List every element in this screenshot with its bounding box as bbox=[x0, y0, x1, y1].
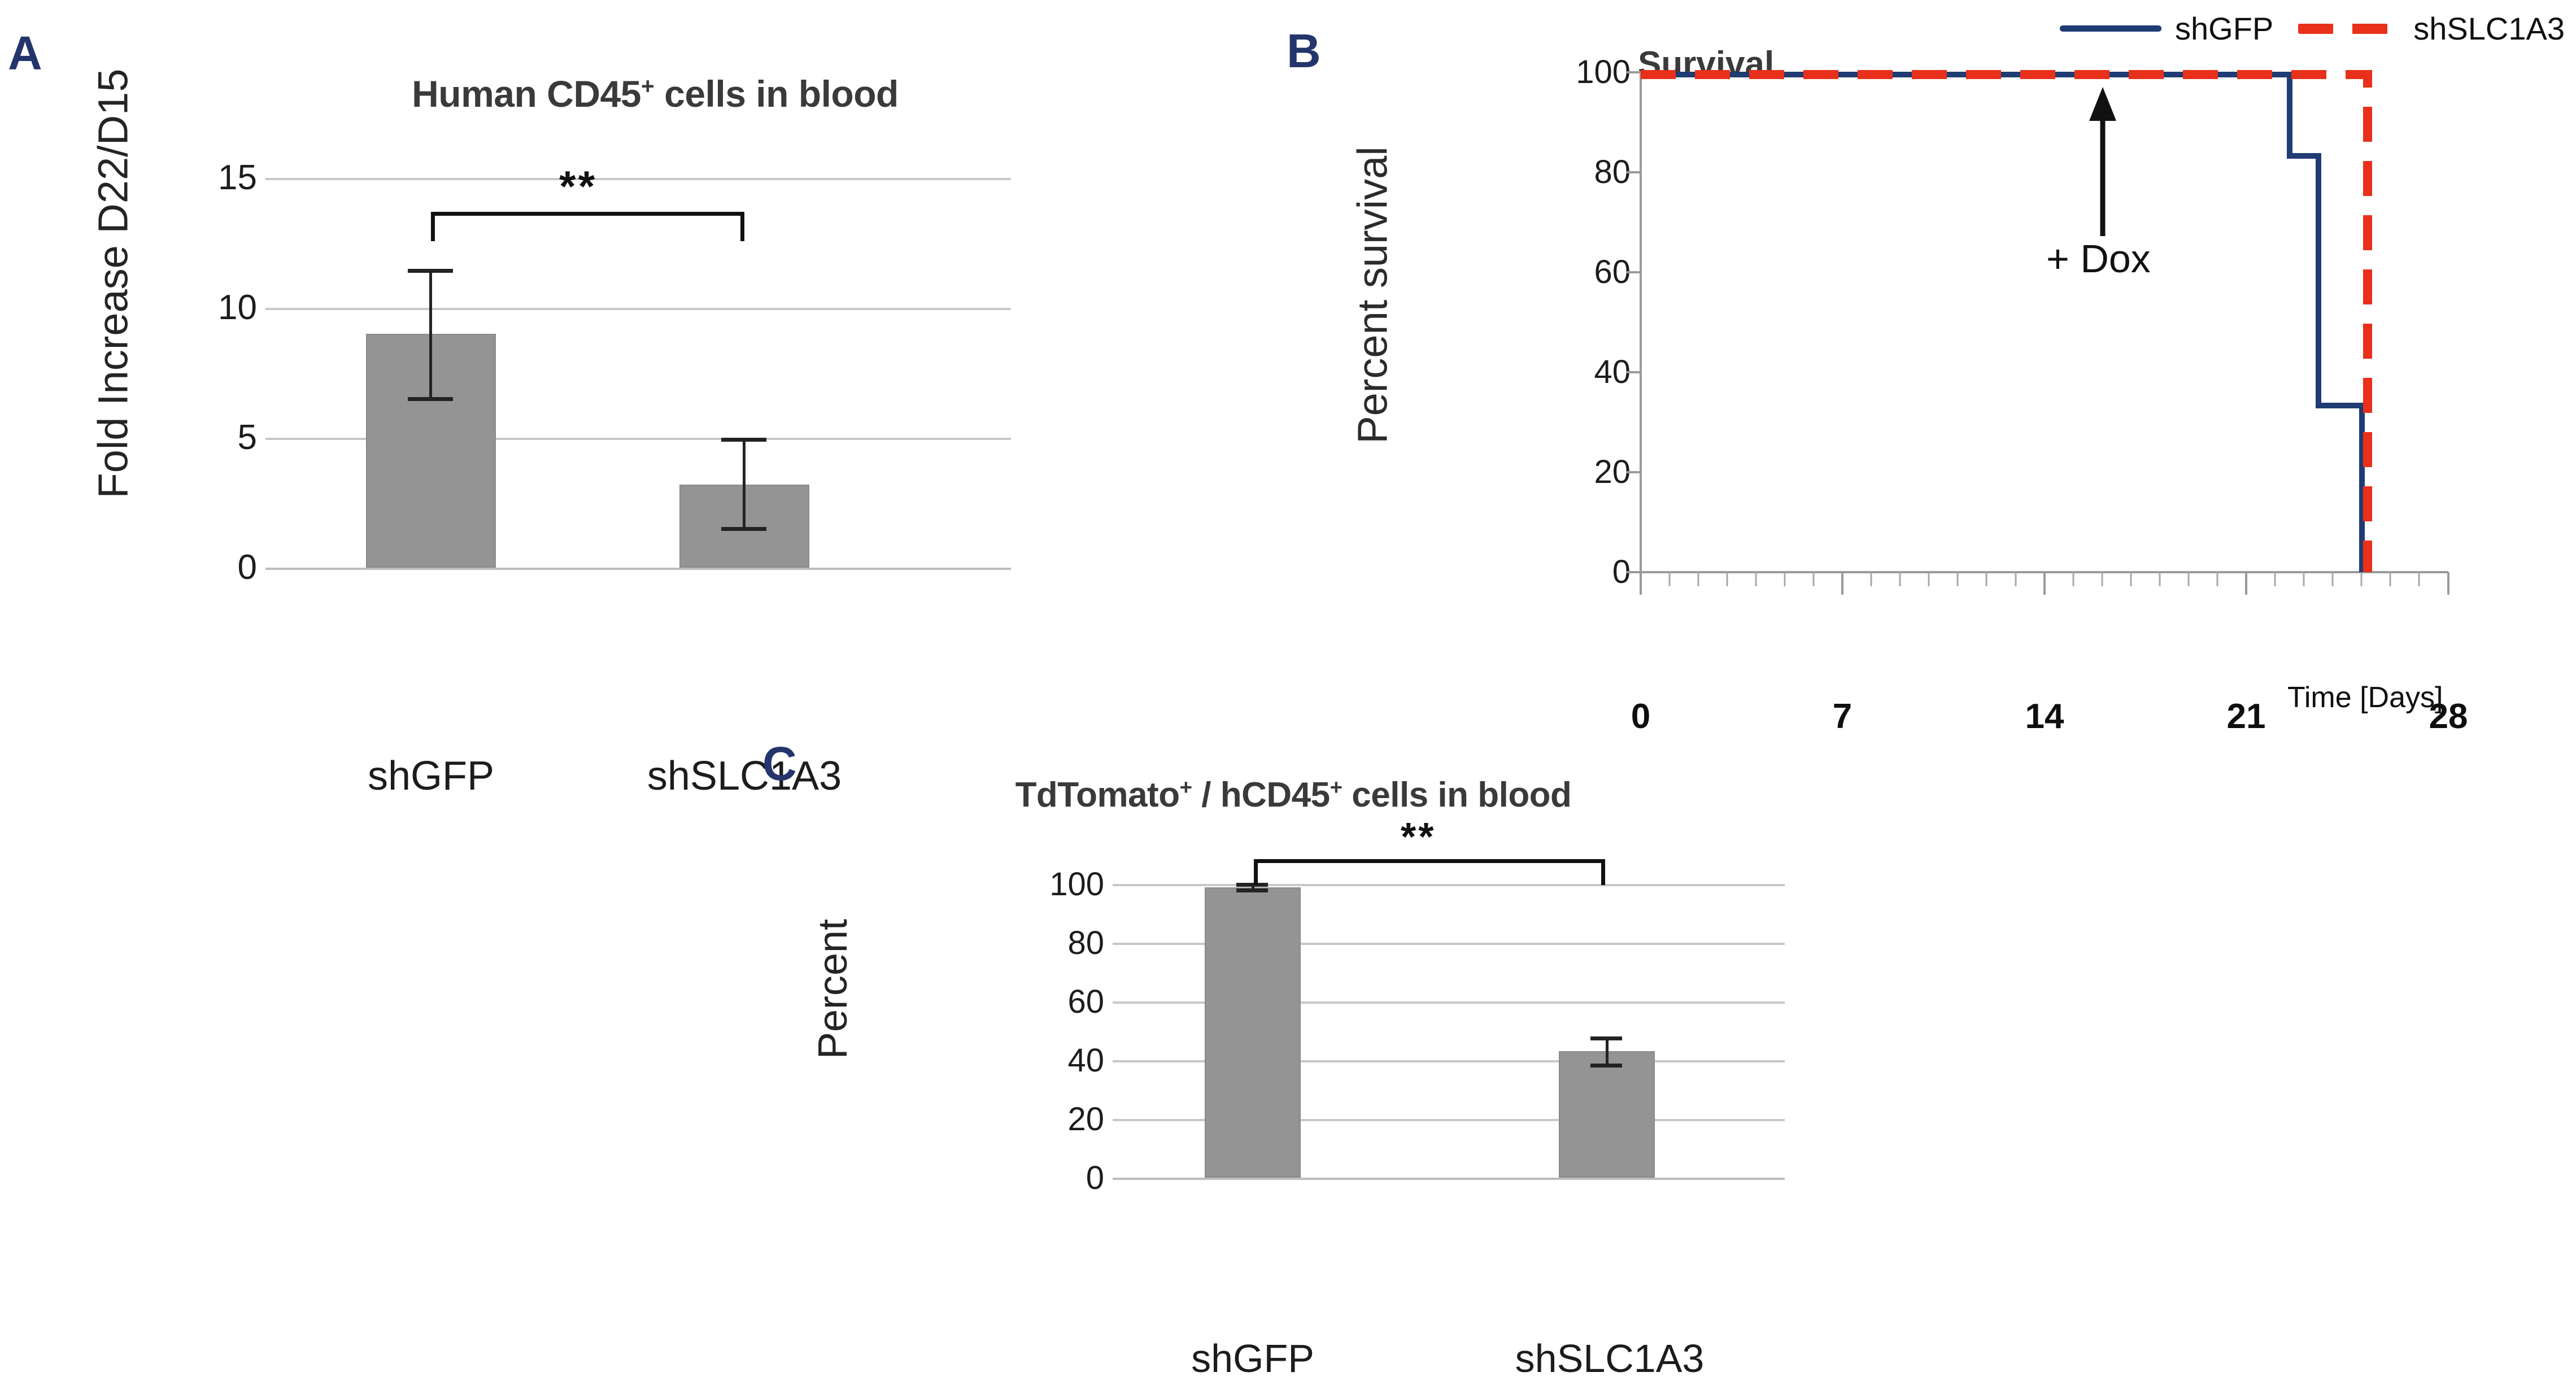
panel-b-xtick-7: 7 bbox=[1797, 696, 1888, 737]
panel-c-bar-shgfp[interactable] bbox=[1205, 887, 1301, 1178]
legend-item-shslc1a3[interactable]: shSLC1A3 bbox=[2298, 10, 2565, 47]
panel-b-major-ticks bbox=[1641, 572, 2448, 595]
panel-c-axis-baseline bbox=[1113, 1178, 1785, 1180]
panel-c-errorbar-shgfp-cap-bottom bbox=[1236, 888, 1268, 892]
panel-a-sig-bracket-left bbox=[431, 212, 435, 241]
panel-c-gridline-100 bbox=[1113, 884, 1785, 886]
panel-c-y-axis-label: Percent bbox=[810, 831, 856, 1147]
panel-b-ytick-60: 60 bbox=[1518, 253, 1631, 291]
panel-a-letter: A bbox=[8, 29, 42, 77]
panel-a-significance-stars: ** bbox=[559, 162, 597, 211]
panel-b-survival-curves bbox=[1641, 72, 2448, 694]
legend-line-solid-icon bbox=[2060, 25, 2161, 32]
legend-item-shgfp[interactable]: shGFP bbox=[2060, 10, 2273, 47]
panel-c-significance-stars: ** bbox=[1401, 814, 1436, 859]
panel-a-errorbar-shgfp-cap-bottom bbox=[408, 397, 453, 401]
panel-a-ytick-15: 15 bbox=[155, 158, 257, 198]
panel-b-xtick-21: 21 bbox=[2201, 696, 2291, 737]
panel-c-title-p2: / hCD45 bbox=[1192, 776, 1330, 814]
panel-c-errorbar-shslc1a3-cap-bottom bbox=[1590, 1064, 1622, 1068]
panel-a: A Human CD45+ cells in blood Fold Increa… bbox=[0, 0, 1276, 734]
panel-b-dox-arrow-icon bbox=[2089, 87, 2116, 236]
panel-b-ytick-20: 20 bbox=[1518, 453, 1631, 491]
panel-a-errorbar-shgfp-line bbox=[429, 269, 432, 399]
panel-b-letter: B bbox=[1287, 27, 1321, 75]
panel-a-ytick-0: 0 bbox=[155, 547, 257, 587]
legend-line-dashed-icon bbox=[2298, 24, 2400, 34]
panel-a-xtick-shgfp: shGFP bbox=[335, 753, 527, 799]
panel-a-sig-bracket-top bbox=[431, 212, 744, 216]
panel-b-plot-area: 100 80 60 40 20 0 bbox=[1641, 72, 2448, 671]
panel-c-errorbar-shslc1a3-cap-top bbox=[1590, 1036, 1622, 1040]
panel-b-curve-shgfp bbox=[1641, 75, 2362, 572]
panel-c-ytick-40: 40 bbox=[997, 1042, 1104, 1079]
panel-b-xtick-14: 14 bbox=[1999, 696, 2090, 737]
panel-a-errorbar-shslc1a3-cap-top bbox=[721, 438, 766, 442]
panel-c-sig-bracket-right bbox=[1601, 859, 1605, 885]
panel-a-errorbar-shgfp-cap-top bbox=[408, 269, 453, 273]
panel-a-ytick-10: 10 bbox=[155, 287, 257, 328]
legend-label-shslc1a3: shSLC1A3 bbox=[2413, 10, 2565, 47]
panel-a-chart-title: Human CD45+ cells in blood bbox=[316, 72, 994, 115]
panel-c-errorbar-shslc1a3-line bbox=[1606, 1036, 1609, 1066]
panel-b-dox-label: + Dox bbox=[2046, 236, 2151, 281]
panel-c-title-sup1: + bbox=[1180, 775, 1192, 799]
panel-c-chart-title: TdTomato+ / hCD45+ cells in blood bbox=[813, 775, 1773, 815]
panel-c-ytick-20: 20 bbox=[997, 1100, 1104, 1138]
legend-label-shgfp: shGFP bbox=[2175, 10, 2273, 47]
panel-b-xtick-0: 0 bbox=[1596, 696, 1686, 737]
panel-a-axis-baseline bbox=[265, 568, 1011, 570]
panel-b-ytick-80: 80 bbox=[1518, 153, 1631, 191]
panel-a-ytick-5: 5 bbox=[155, 417, 257, 458]
panel-b-x-axis-label: Time [Days] bbox=[2287, 681, 2443, 715]
panel-c-sig-bracket-left bbox=[1254, 859, 1258, 885]
panel-c-title-p3: cells in blood bbox=[1343, 776, 1572, 814]
panel-c-ytick-100: 100 bbox=[997, 865, 1104, 903]
panel-b: B shGFP shSLC1A3 Survival Percent surviv… bbox=[1276, 0, 2576, 746]
panel-b-legend: shGFP shSLC1A3 bbox=[2060, 10, 2565, 47]
panel-c-sig-bracket-top bbox=[1254, 859, 1605, 863]
panel-b-y-axis-label: Percent survival bbox=[1349, 81, 1397, 510]
panel-c: C TdTomato+ / hCD45+ cells in blood Perc… bbox=[768, 740, 1898, 1358]
panel-a-title-sup: + bbox=[641, 73, 654, 99]
panel-c-title-sup2: + bbox=[1330, 775, 1343, 799]
panel-c-xtick-shslc1a3: shSLC1A3 bbox=[1491, 1336, 1728, 1381]
panel-c-plot-area: 100 80 60 40 20 0 ** shGFP shSLC1A3 bbox=[1113, 884, 1785, 1178]
panel-a-gridline-15 bbox=[265, 178, 1011, 180]
panel-c-xtick-shgfp: shGFP bbox=[1157, 1336, 1349, 1381]
panel-a-y-axis-label: Fold Increase D22/D15 bbox=[89, 69, 137, 499]
panel-b-ytick-0: 0 bbox=[1518, 553, 1631, 591]
panel-a-sig-bracket-right bbox=[740, 212, 744, 241]
panel-c-bar-shslc1a3[interactable] bbox=[1559, 1051, 1655, 1178]
panel-c-ytick-60: 60 bbox=[997, 983, 1104, 1021]
panel-a-errorbar-shslc1a3-cap-bottom bbox=[721, 527, 766, 531]
panel-c-title-p1: TdTomato bbox=[1015, 776, 1180, 814]
panel-b-ytick-40: 40 bbox=[1518, 353, 1631, 391]
panel-b-curve-shslc1a3 bbox=[1641, 75, 2368, 572]
panel-c-letter: C bbox=[762, 740, 797, 787]
panel-c-ytick-0: 0 bbox=[997, 1159, 1104, 1197]
panel-a-plot-area: 15 10 5 0 ** shGFP shSLC1A3 bbox=[265, 178, 1011, 568]
panel-c-ytick-80: 80 bbox=[997, 924, 1104, 962]
panel-c-errorbar-shgfp-cap-top bbox=[1236, 883, 1268, 887]
panel-a-title-main: Human CD45 bbox=[412, 73, 641, 115]
panel-b-ytick-100: 100 bbox=[1518, 53, 1631, 91]
panel-a-errorbar-shslc1a3-line bbox=[743, 438, 746, 529]
panel-a-gridline-10 bbox=[265, 308, 1011, 310]
panel-b-y-ticks bbox=[1626, 72, 1641, 572]
panel-a-title-tail: cells in blood bbox=[654, 73, 899, 115]
